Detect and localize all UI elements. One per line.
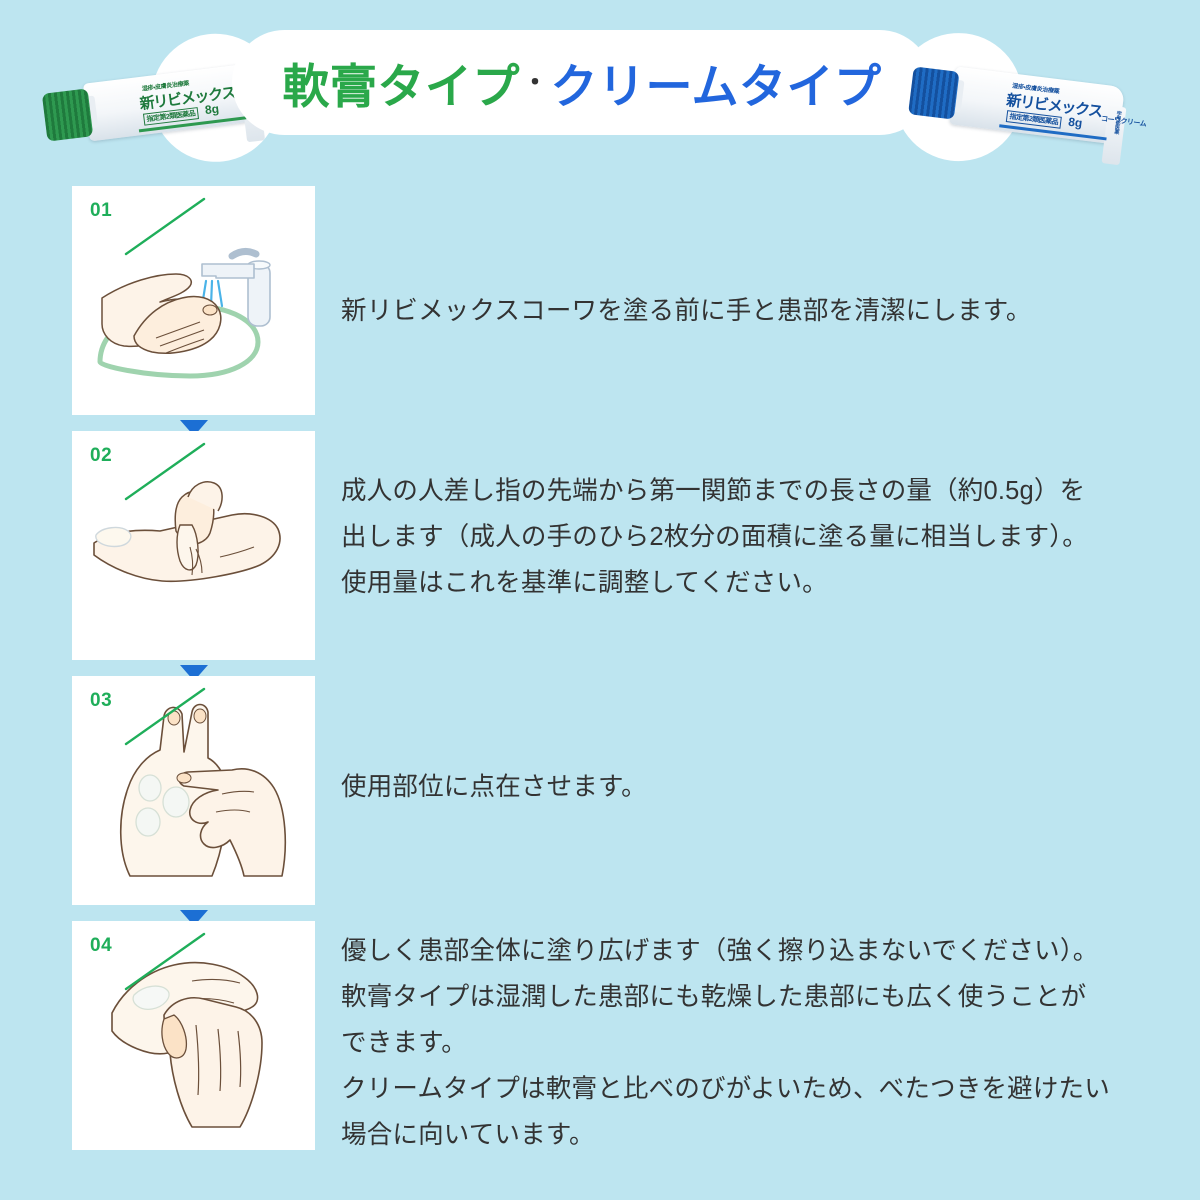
step-text-02: 成人の人差し指の先端から第一関節までの長さの量（約0.5g）を 出します（成人の… bbox=[341, 468, 1160, 606]
step-number-02: 02 bbox=[90, 445, 112, 467]
tube-weight-label: 8g bbox=[204, 102, 220, 118]
step-text-line: 使用部位に点在させます。 bbox=[341, 764, 1160, 810]
step-text-line: 優しく患部全体に塗り広げます（強く擦り込まないでください）。 bbox=[341, 928, 1160, 974]
title-ointment-type: 軟膏タイプ bbox=[282, 48, 520, 117]
step-text-line: 成人の人差し指の先端から第一関節までの長さの量（約0.5g）を bbox=[341, 468, 1160, 514]
title-cream-type: クリームタイプ bbox=[550, 48, 881, 117]
step-text-line: クリームタイプは軟膏と比べのびがよいため、べたつきを避けたい bbox=[341, 1066, 1160, 1112]
step-number-04: 04 bbox=[90, 935, 112, 957]
step-panel-01: 01 bbox=[72, 186, 315, 415]
step-text-line: 新リビメックスコーワを塗る前に手と患部を清潔にします。 bbox=[341, 288, 1160, 334]
step-text-line: 軟膏タイプは湿潤した患部にも乾燥した患部にも広く使うことが bbox=[341, 974, 1160, 1020]
step-text-line: 出します（成人の手のひら2枚分の面積に塗る量に相当します）。 bbox=[341, 514, 1160, 560]
step-text-04: 優しく患部全体に塗り広げます（強く擦り込まないでください）。 軟膏タイプは湿潤し… bbox=[341, 928, 1160, 1158]
header-banner: 軟膏タイプ・クリームタイプ bbox=[232, 30, 932, 135]
step-slash-decoration bbox=[124, 441, 208, 503]
step-slash-decoration bbox=[124, 931, 208, 993]
step-text-01: 新リビメックスコーワを塗る前に手と患部を清潔にします。 bbox=[341, 288, 1160, 334]
step-number-03: 03 bbox=[90, 690, 112, 712]
step-panel-03: 03 bbox=[72, 676, 315, 905]
product-tube-cream: 湿疹・皮膚炎治療薬 新リビメックスコーワクリーム 指定第2類医薬品 8g 学用部… bbox=[903, 41, 1143, 168]
step-text-03: 使用部位に点在させます。 bbox=[341, 764, 1160, 810]
step-slash-decoration bbox=[124, 196, 208, 258]
title-separator: ・ bbox=[520, 62, 551, 99]
step-text-line: 場合に向いています。 bbox=[341, 1112, 1160, 1158]
step-slash-decoration bbox=[124, 686, 208, 748]
step-text-line: 使用量はこれを基準に調整してください。 bbox=[341, 560, 1160, 606]
step-number-01: 01 bbox=[90, 200, 112, 222]
tube-cap bbox=[42, 88, 94, 141]
tube-weight-label: 8g bbox=[1067, 115, 1083, 131]
tube-cap bbox=[908, 66, 960, 119]
step-panel-04: 04 bbox=[72, 921, 315, 1150]
step-panel-02: 02 bbox=[72, 431, 315, 660]
step-text-line: できます。 bbox=[341, 1020, 1160, 1066]
page-title: 軟膏タイプ・クリームタイプ bbox=[232, 30, 932, 135]
